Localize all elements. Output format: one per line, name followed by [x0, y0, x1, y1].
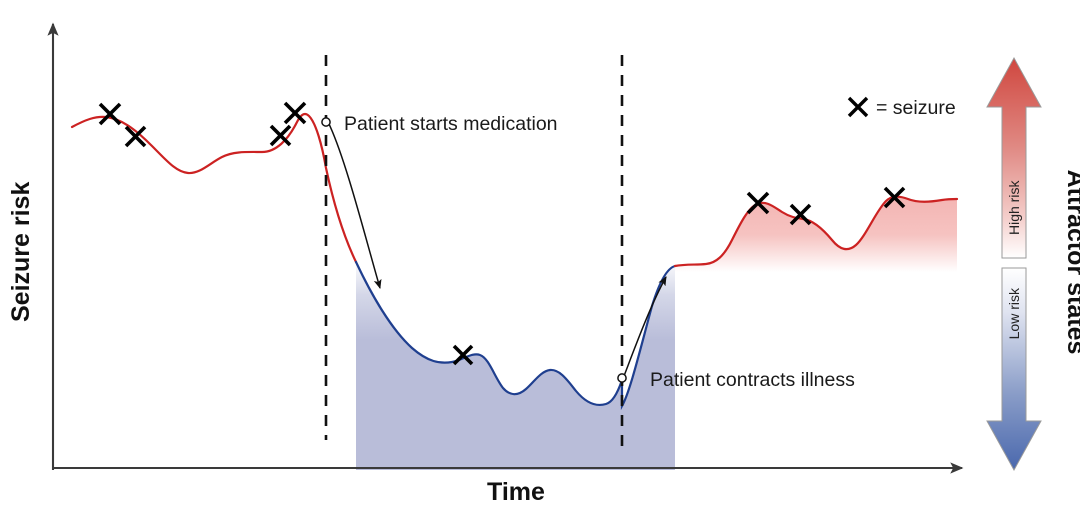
annotation-medication: Patient starts medication: [344, 113, 558, 135]
area-high-risk-left: [72, 114, 326, 470]
seizure-x-icon: [849, 98, 867, 116]
seizure-marker: [285, 103, 305, 123]
area-transition-red: [326, 168, 356, 470]
colorbar-title: Attractor states: [1062, 170, 1080, 355]
y-axis-label: Seizure risk: [7, 182, 35, 322]
event-marker-illness: [618, 374, 626, 382]
figure-canvas: Seizure risk Time Patient starts medicat…: [0, 0, 1080, 520]
annotation-illness: Patient contracts illness: [650, 369, 855, 391]
area-high-risk-right: [675, 197, 957, 470]
seizure-risk-chart: Seizure risk Time Patient starts medicat…: [0, 0, 1080, 520]
legend-seizure: = seizure: [849, 97, 956, 119]
seizure-marker: [271, 126, 290, 145]
x-axis-label: Time: [487, 478, 545, 506]
legend-label: = seizure: [876, 97, 956, 119]
colorbar-high-label: High risk: [1006, 180, 1022, 235]
colorbar-low-label: Low risk: [1006, 287, 1022, 339]
colorbar: High risk Low risk Attractor states: [987, 58, 1080, 470]
event-marker-medication: [322, 118, 330, 126]
